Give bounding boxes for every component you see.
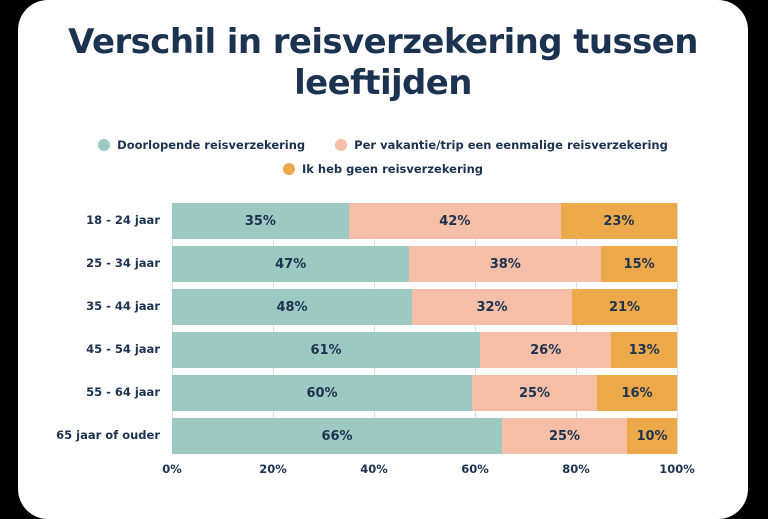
bar-segment-value-label: 16% xyxy=(621,386,652,401)
bar-segment-value-label: 25% xyxy=(549,429,580,444)
bar-segment[interactable]: 47% xyxy=(172,246,409,282)
bar-segment-value-label: 10% xyxy=(636,429,667,444)
bar-row: 48%32%21% xyxy=(172,289,677,325)
bar-segment[interactable]: 23% xyxy=(561,203,677,239)
bar-segment[interactable]: 38% xyxy=(409,246,601,282)
bar-row: 60%25%16% xyxy=(172,375,677,411)
bar-segment-value-label: 38% xyxy=(490,257,521,272)
bar-segment[interactable]: 15% xyxy=(601,246,677,282)
y-axis-category-label: 55 - 64 jaar xyxy=(20,385,160,399)
bar-row: 35%42%23% xyxy=(172,203,677,239)
bar-segment-value-label: 61% xyxy=(310,343,341,358)
gridline xyxy=(172,203,173,454)
bar-segment[interactable]: 32% xyxy=(412,289,572,325)
bar-segment-value-label: 23% xyxy=(603,214,634,229)
bar-segment[interactable]: 42% xyxy=(349,203,561,239)
bar-segment[interactable]: 26% xyxy=(480,332,611,368)
bar-segment[interactable]: 21% xyxy=(572,289,677,325)
gridline xyxy=(374,203,375,454)
bar-segment-value-label: 42% xyxy=(439,214,470,229)
bar-segment[interactable]: 25% xyxy=(502,418,627,454)
bar-segment-value-label: 26% xyxy=(530,343,561,358)
bar-row: 66%25%10% xyxy=(172,418,677,454)
bar-segment[interactable]: 66% xyxy=(172,418,502,454)
x-axis-tick-label: 80% xyxy=(562,462,590,476)
plot-area: 18 - 24 jaar35%42%23%25 - 34 jaar47%38%1… xyxy=(18,0,748,519)
bar-segment-value-label: 48% xyxy=(276,300,307,315)
bar-segment-value-label: 60% xyxy=(306,386,337,401)
bar-row: 61%26%13% xyxy=(172,332,677,368)
bar-segment-value-label: 21% xyxy=(609,300,640,315)
y-axis-category-label: 25 - 34 jaar xyxy=(20,256,160,270)
bar-segment-value-label: 32% xyxy=(476,300,507,315)
bar-segment[interactable]: 60% xyxy=(172,375,472,411)
bar-segment-value-label: 35% xyxy=(245,214,276,229)
bar-segment-value-label: 15% xyxy=(624,257,655,272)
bar-segment[interactable]: 48% xyxy=(172,289,412,325)
y-axis-category-label: 35 - 44 jaar xyxy=(20,299,160,313)
bar-segment[interactable]: 16% xyxy=(597,375,677,411)
x-axis-tick-label: 40% xyxy=(360,462,388,476)
bar-segment[interactable]: 35% xyxy=(172,203,349,239)
bar-segment[interactable]: 61% xyxy=(172,332,480,368)
chart-card: Verschil in reisverzekering tussen leeft… xyxy=(18,0,748,519)
y-axis-category-label: 65 jaar of ouder xyxy=(20,428,160,442)
bar-segment[interactable]: 13% xyxy=(611,332,677,368)
bar-segment-value-label: 13% xyxy=(629,343,660,358)
bar-segment[interactable]: 10% xyxy=(627,418,677,454)
bar-segment-value-label: 47% xyxy=(275,257,306,272)
bar-segment-value-label: 25% xyxy=(519,386,550,401)
x-axis-tick-label: 60% xyxy=(461,462,489,476)
gridline xyxy=(273,203,274,454)
x-axis-tick-label: 0% xyxy=(162,462,182,476)
gridline xyxy=(677,203,678,454)
gridline xyxy=(475,203,476,454)
y-axis-category-label: 18 - 24 jaar xyxy=(20,213,160,227)
x-axis-tick-label: 20% xyxy=(259,462,287,476)
bar-row: 47%38%15% xyxy=(172,246,677,282)
bar-segment-value-label: 66% xyxy=(321,429,352,444)
x-axis-tick-label: 100% xyxy=(659,462,695,476)
bar-segment[interactable]: 25% xyxy=(472,375,597,411)
y-axis-category-label: 45 - 54 jaar xyxy=(20,342,160,356)
gridline xyxy=(576,203,577,454)
